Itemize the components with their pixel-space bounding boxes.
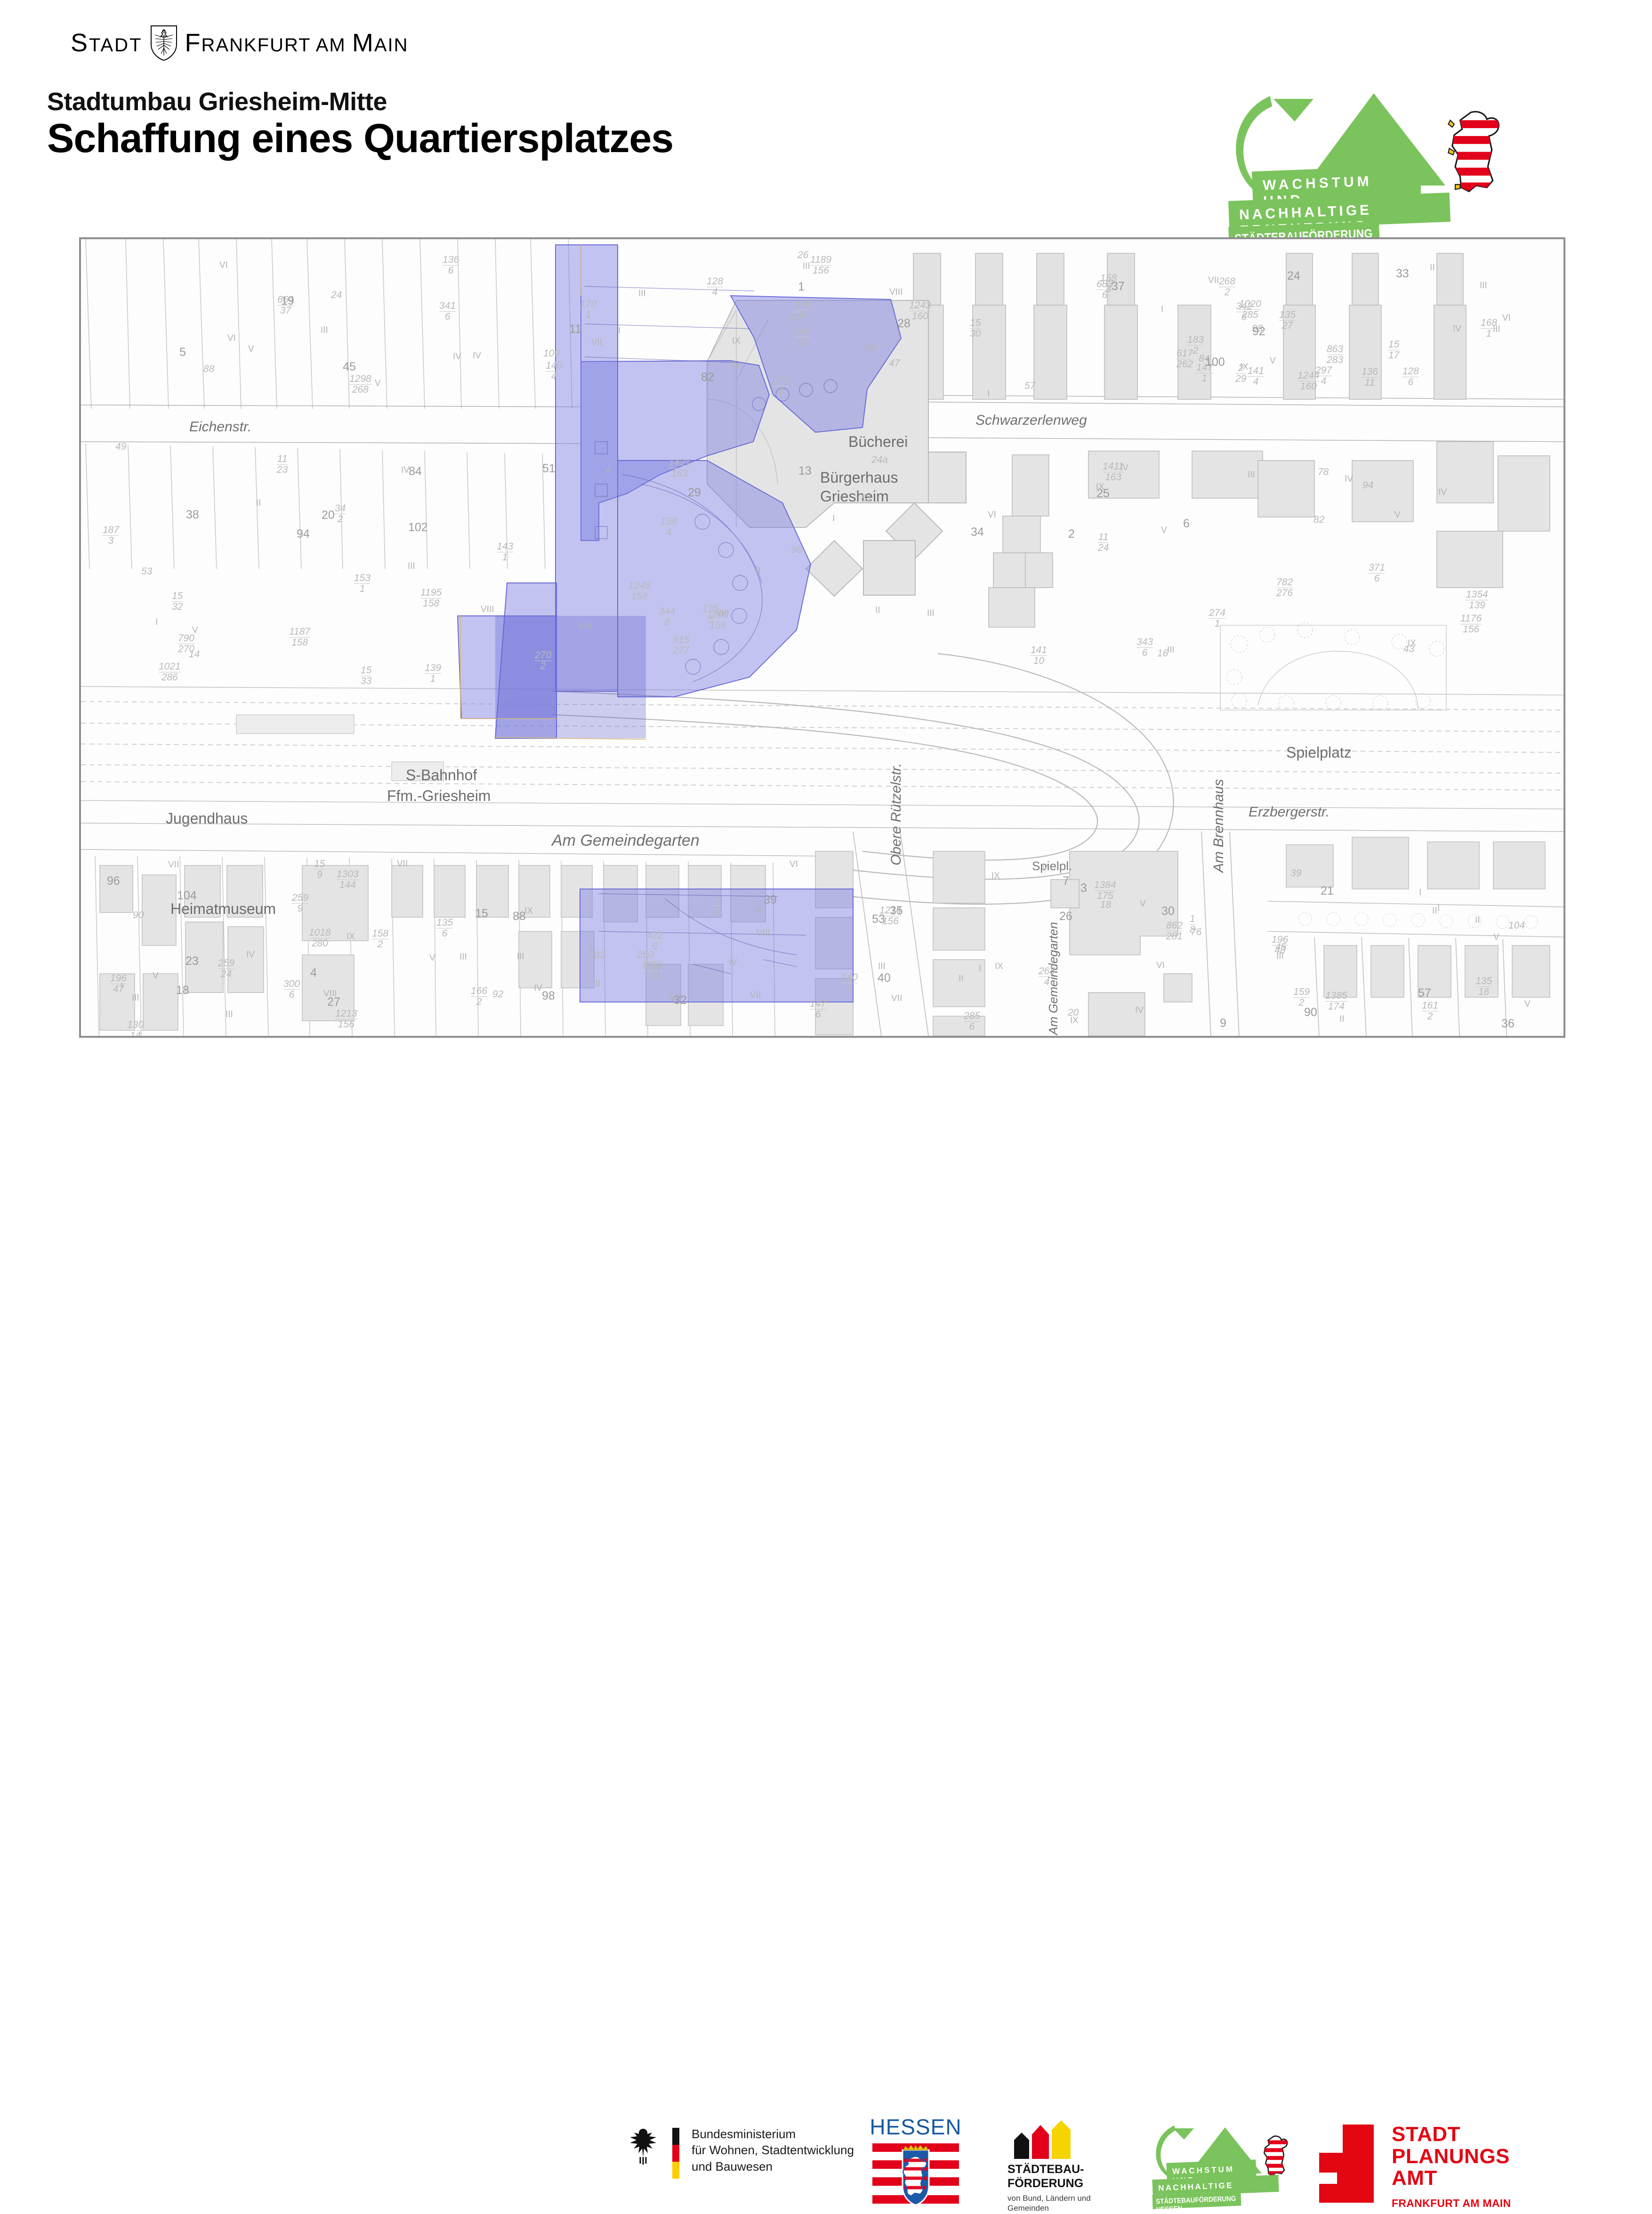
parcel-number: 1248158 xyxy=(629,581,651,601)
bundesadler-eagle-icon xyxy=(626,2126,660,2166)
parcel-number: 1286 xyxy=(1402,366,1419,387)
parcel-number: 51 xyxy=(861,493,872,503)
parcel-number: 26 xyxy=(798,250,808,260)
floor-count-mark: VI xyxy=(227,333,236,344)
page-header: STADT FRANKFURT AM MAIN Stadtumbau Gries… xyxy=(0,0,1652,221)
parcel-number: 1414 xyxy=(1248,366,1264,387)
parcel-number: 39 xyxy=(1290,868,1301,878)
house-number: 34 xyxy=(971,525,984,539)
parcel-number: 13014 xyxy=(127,1020,144,1038)
parcel-number: 1195158 xyxy=(420,588,442,608)
house-number: 21 xyxy=(1321,884,1334,898)
house-number: 18 xyxy=(176,984,189,997)
house-number: 51 xyxy=(542,462,556,476)
parcel-number: 1701 xyxy=(580,299,596,320)
parcel-number: 1366 xyxy=(443,255,459,275)
floor-count-mark: III xyxy=(878,962,886,972)
parcel-number: 1402 xyxy=(841,972,858,993)
parcel-number: 1298268 xyxy=(349,374,371,395)
spa-line1: STADT xyxy=(1392,2124,1511,2146)
floor-count-mark: V xyxy=(153,971,159,981)
floor-count-mark: VI xyxy=(988,510,996,520)
parcel-number: 96 xyxy=(791,545,802,555)
house-number: 57 xyxy=(1418,986,1431,1000)
parcel-number: 790270 xyxy=(178,633,194,654)
parcel-number: 49 xyxy=(115,442,126,452)
floor-count-mark: VII xyxy=(591,338,602,348)
floor-count-mark: III xyxy=(1167,645,1175,655)
parcel-number: 1354139 xyxy=(1466,590,1488,610)
stf-sub2: Gemeinden xyxy=(1007,2203,1116,2213)
parcel-number: 14110 xyxy=(1031,645,1047,666)
parcel-number: 102 xyxy=(588,950,605,960)
house-number: 9 xyxy=(1220,1017,1226,1030)
stadtplanungsamt-text: STADT PLANUNGS AMT FRANKFURT AM MAIN xyxy=(1392,2124,1511,2210)
stadtplanungsamt-logo: STADT PLANUNGS AMT FRANKFURT AM MAIN xyxy=(1318,2124,1511,2210)
floor-count-mark: IV xyxy=(653,963,662,974)
floor-count-mark: II xyxy=(1475,915,1480,926)
spa-line2: PLANUNGS xyxy=(1392,2146,1511,2168)
floor-count-mark: III xyxy=(517,952,524,962)
parcel-number: 16 xyxy=(1157,648,1168,658)
parcel-number: 1021286 xyxy=(159,662,181,682)
floor-count-mark: I xyxy=(1419,888,1421,898)
floor-count-mark: V xyxy=(1140,899,1146,909)
floor-count-mark: II xyxy=(595,979,600,989)
house-number: 40 xyxy=(878,971,891,985)
parcel-number: 1243160 xyxy=(909,300,931,321)
german-flag-bar-icon xyxy=(672,2128,679,2179)
house-number: 90 xyxy=(1304,1006,1317,1019)
parcel-number: 57 xyxy=(1024,381,1035,391)
parcel-number: 782276 xyxy=(1276,577,1293,598)
parcel-number: 12 xyxy=(714,895,720,916)
floor-count-mark: I xyxy=(618,326,621,336)
parcel-number: 1176156 xyxy=(1460,614,1482,634)
house-number: 30 xyxy=(1161,905,1175,918)
floor-count-mark: IV xyxy=(453,352,461,362)
house-number: 15 xyxy=(475,907,488,921)
hessen-wordmark: HESSEN xyxy=(869,2114,963,2140)
parcel-number: 1384175 xyxy=(1094,880,1116,901)
parcel-number: 2741 xyxy=(1209,608,1225,629)
parcel-number: 53 xyxy=(141,566,152,576)
parcel-number: 3436 xyxy=(1136,637,1153,658)
floor-count-mark: V xyxy=(375,379,381,389)
bmwsb-line1: Bundesministerium xyxy=(692,2126,854,2142)
page-footer: Bundesministerium für Wohnen, Stadtentwi… xyxy=(0,1055,1652,1168)
parcel-number: 3416 xyxy=(439,301,456,322)
floor-count-mark: IX xyxy=(1096,482,1104,493)
floor-count-mark: IX xyxy=(995,962,1003,972)
parcel-number: 159 xyxy=(314,859,325,880)
house-number: 37 xyxy=(1112,280,1125,293)
floor-count-mark: I xyxy=(1437,904,1440,914)
stf-sub1: von Bund, Ländern und xyxy=(1007,2193,1116,2203)
house-number: 19 xyxy=(281,294,294,308)
parcel-number: 14515 xyxy=(794,326,810,347)
parcel-number: 617262 xyxy=(1177,348,1193,369)
parcel-number: 1592 xyxy=(1293,987,1310,1008)
floor-count-mark: IX xyxy=(754,905,763,915)
parcel-number: 815277 xyxy=(673,635,689,655)
parcel-number: 1533 xyxy=(361,665,371,686)
floor-count-mark: IV xyxy=(401,465,410,476)
floor-count-mark: I xyxy=(832,514,835,524)
house-number: 38 xyxy=(186,508,199,522)
parcel-number: 104 xyxy=(1508,921,1525,930)
floor-count-mark: III xyxy=(1248,470,1255,480)
floor-count-mark: V xyxy=(1524,999,1531,1010)
parcel-number: 1421163 xyxy=(669,458,691,478)
house-number: 5 xyxy=(179,346,186,359)
floor-count-mark: IX xyxy=(1070,1016,1079,1026)
parcel-number: 18 xyxy=(1100,900,1111,910)
floor-count-mark: VII xyxy=(168,860,179,870)
house-number: 36 xyxy=(1501,1017,1515,1031)
parcel-number: 18 xyxy=(1190,914,1195,935)
city-logo-word-frankfurt: FRANKFURT AM MAIN xyxy=(185,28,409,57)
floor-count-mark: IV xyxy=(534,983,542,994)
floor-count-mark: VII xyxy=(865,343,876,354)
floor-count-mark: IV xyxy=(729,958,737,968)
parcel-number: 342 xyxy=(335,503,346,524)
floor-count-mark: V xyxy=(1493,932,1499,943)
parcel-number: 24 xyxy=(331,290,342,300)
parcel-number: 1517 xyxy=(1388,339,1399,360)
floor-count-mark: I xyxy=(590,941,592,952)
parcel-number: 2856 xyxy=(964,1011,980,1032)
floor-count-mark: III xyxy=(459,952,467,962)
stadtplanungsamt-mark-icon xyxy=(1318,2124,1375,2204)
parcel-number: 1284 xyxy=(707,276,723,297)
parcel-number: 1385174 xyxy=(1325,991,1347,1011)
parcel-number: 863283 xyxy=(1327,344,1343,365)
house-number: 53 xyxy=(872,913,885,926)
parcel-number: 1531 xyxy=(354,573,371,594)
parcel-number: 1303144 xyxy=(337,869,359,890)
house-number: 92 xyxy=(1252,325,1265,339)
floor-count-mark: V xyxy=(604,465,611,475)
house-number: 96 xyxy=(107,874,120,888)
staedtebaufoerderung-sub: von Bund, Ländern und Gemeinden xyxy=(1007,2193,1116,2214)
hessen-coat-of-arms-icon xyxy=(869,2142,963,2208)
floor-count-mark: VII xyxy=(1208,275,1219,286)
cadastral-map[interactable]: Eichenstr. Schwarzerlenweg Erzbergerstr.… xyxy=(79,237,1565,1038)
bmwsb-line3: und Bauwesen xyxy=(692,2158,854,2174)
floor-count-mark: II xyxy=(959,974,964,984)
parcel-number: 862281 xyxy=(1166,921,1183,941)
parcel-number: 1873 xyxy=(103,525,119,546)
floor-count-mark: II xyxy=(756,566,761,576)
house-number: 23 xyxy=(185,954,199,968)
parcel-number: 4226 xyxy=(646,930,663,951)
floor-count-mark: III xyxy=(1493,324,1500,335)
house-number: 88 xyxy=(513,910,526,923)
house-number: 35 xyxy=(890,904,903,918)
floor-count-mark: II xyxy=(875,606,880,616)
floor-count-mark: III xyxy=(408,561,415,572)
floor-count-mark: III xyxy=(132,993,139,1003)
floor-count-mark: III xyxy=(927,608,935,619)
house-number: 84 xyxy=(409,465,422,478)
spa-line3: AMT xyxy=(1392,2167,1511,2190)
parcel-number: 1476 xyxy=(810,999,826,1019)
city-logo-word-stadt: STADT xyxy=(71,28,143,57)
page-title: Schaffung eines Quartiersplatzes xyxy=(47,115,673,162)
parcel-number: 3446 xyxy=(659,606,675,627)
parcel-number: 1532 xyxy=(172,591,183,612)
floor-count-mark: I xyxy=(979,964,981,974)
floor-count-mark: VII xyxy=(750,990,761,1001)
parcel-number: 3006 xyxy=(283,979,300,1000)
floor-count-mark: V xyxy=(1270,356,1276,366)
parcel-number: 13516 xyxy=(1475,976,1492,997)
frankfurt-eagle-crest-icon xyxy=(149,24,178,61)
parcel-number: 3716 xyxy=(1369,563,1385,583)
floor-count-mark: IX xyxy=(1240,362,1249,372)
house-number: 33 xyxy=(1396,267,1409,281)
parcel-number: 1213156 xyxy=(335,1009,357,1029)
floor-count-mark: VI xyxy=(1156,961,1165,971)
floor-count-mark: IV xyxy=(668,993,676,1003)
floor-count-mark: IV xyxy=(1345,474,1353,485)
parcel-number: 47 xyxy=(889,358,900,368)
parcel-number: 224 xyxy=(790,301,801,322)
floor-count-mark: VIII xyxy=(323,989,337,999)
house-number: 82 xyxy=(701,371,714,384)
house-number: 24 xyxy=(1287,269,1300,283)
staedtebaufoerderung-logo: STÄDTEBAU- FÖRDERUNG von Bund, Ländern u… xyxy=(1007,2121,1116,2214)
house-number: 45 xyxy=(343,360,356,374)
bmwsb-line2: für Wohnen, Stadtentwicklung xyxy=(692,2142,854,2158)
floor-count-mark: VIII xyxy=(481,605,494,615)
parcel-number: 100 xyxy=(543,348,560,358)
floor-count-mark: I xyxy=(155,617,158,628)
parcel-number: 1662 xyxy=(471,986,487,1007)
parcel-number: 2684 xyxy=(1039,966,1055,987)
house-number: 26 xyxy=(1059,910,1072,923)
parcel-number: 1582 xyxy=(372,929,388,949)
parcel-number-layer: 13662424a1355135613516135271361113541391… xyxy=(81,239,1563,1036)
floor-count-mark: VIII xyxy=(716,608,729,619)
floor-count-mark: IV xyxy=(473,351,481,361)
floor-count-mark: VIII xyxy=(757,928,770,938)
floor-count-mark: III xyxy=(803,261,810,272)
parcel-number: 78 xyxy=(1318,467,1329,477)
floor-count-mark: VII xyxy=(397,859,408,869)
floor-count-mark: IV xyxy=(1453,324,1461,334)
house-number: 2 xyxy=(1068,527,1075,541)
house-number: 7 xyxy=(1063,874,1069,888)
floor-count-mark: II xyxy=(256,498,261,509)
floor-count-mark: III xyxy=(226,1010,233,1020)
parcel-number: 1124 xyxy=(1098,532,1109,553)
parcel-number: 1391 xyxy=(425,663,441,684)
parcel-number: 2682 xyxy=(1219,276,1235,297)
floor-count-mark: V xyxy=(429,953,435,963)
house-number: 100 xyxy=(1205,356,1225,369)
parcel-number: 94 xyxy=(1362,480,1373,490)
floor-count-mark: VIII xyxy=(578,622,592,632)
house-number: 20 xyxy=(322,509,335,522)
parcel-number: 2974 xyxy=(1315,365,1332,386)
parcel-number: 82 xyxy=(1314,515,1324,525)
house-number: 94 xyxy=(297,527,310,541)
floor-count-mark: IV xyxy=(1120,463,1128,473)
parcel-number: 1404 xyxy=(546,361,562,381)
parcel-number: 1123 xyxy=(277,454,288,475)
parcel-number: 25924 xyxy=(218,958,234,979)
floor-count-mark: II xyxy=(1430,263,1435,273)
parcel-number: 1356 xyxy=(436,918,453,938)
floor-count-mark: IX xyxy=(347,932,355,942)
floor-count-mark: II xyxy=(1432,906,1437,916)
parcel-number: 1189156 xyxy=(810,255,831,275)
parcel-number: 2599 xyxy=(292,893,308,913)
parcel-number: 2702 xyxy=(535,650,551,671)
floor-count-mark: IX xyxy=(524,906,533,916)
floor-count-mark: VII xyxy=(891,994,902,1004)
city-logo: STADT FRANKFURT AM MAIN xyxy=(71,24,409,61)
floor-count-mark: I xyxy=(987,389,990,399)
floor-count-mark: IV xyxy=(732,360,740,371)
parcel-number: 24a xyxy=(871,455,888,465)
three-houses-icon xyxy=(1007,2121,1116,2159)
stf-line1: STÄDTEBAU- xyxy=(1007,2163,1116,2177)
house-number: 1 xyxy=(798,280,805,294)
floor-count-mark: VI xyxy=(219,260,228,271)
wachstum-erneuerung-logo-footer: WACHSTUM UND NACHHALTIGE ERNEUERUNG STÄD… xyxy=(1149,2124,1304,2199)
floor-count-mark: V xyxy=(1042,863,1048,873)
floor-count-mark: III xyxy=(1480,281,1487,291)
house-number: 4 xyxy=(310,966,317,980)
house-number: 39 xyxy=(764,893,777,907)
hessen-logo: HESSEN xyxy=(869,2114,963,2208)
parcel-number: 2608 xyxy=(637,950,653,970)
house-number: 104 xyxy=(177,889,197,903)
floor-count-mark: III xyxy=(1276,951,1284,962)
floor-count-mark: III xyxy=(321,325,328,336)
floor-count-mark: IV xyxy=(246,950,255,960)
house-number: 29 xyxy=(688,486,701,500)
house-number: 11 xyxy=(569,323,581,336)
house-number: 6 xyxy=(1183,517,1190,531)
house-number: 98 xyxy=(542,989,555,1003)
parcel-number: 19647 xyxy=(110,973,127,994)
floor-count-mark: I xyxy=(1161,305,1163,315)
floor-count-mark: IV xyxy=(1438,487,1447,498)
parcel-number: 90 xyxy=(133,910,144,920)
parcel-number: 13611 xyxy=(1362,367,1378,388)
floor-count-mark: V xyxy=(192,625,198,636)
floor-count-mark: I xyxy=(121,981,123,992)
parcel-number: 1431 xyxy=(497,541,513,562)
parcel-number: 1612 xyxy=(1422,1001,1438,1021)
parcel-number: 92 xyxy=(492,989,503,999)
wachstum-footer-band3: STÄDTEBAUFÖRDERUNG HESSEN xyxy=(1152,2191,1241,2209)
house-number: 102 xyxy=(408,521,428,534)
floor-count-mark: IX xyxy=(732,336,741,347)
floor-count-mark: V xyxy=(248,344,254,355)
bmwsb-text: Bundesministerium für Wohnen, Stadtentwi… xyxy=(692,2126,854,2174)
floor-count-mark: VIII xyxy=(889,287,903,298)
parcel-number: 1018280 xyxy=(309,928,331,948)
floor-count-mark: IX xyxy=(1408,638,1416,649)
parcel-number: 13527 xyxy=(1279,310,1296,331)
parcel-number: 3426 xyxy=(1236,301,1252,322)
parcel-number: 1734 xyxy=(773,376,789,396)
floor-count-mark: VI xyxy=(1502,313,1511,323)
floor-count-mark: IX xyxy=(991,871,1000,881)
house-number: 3 xyxy=(1080,881,1087,895)
floor-count-mark: V xyxy=(1161,525,1167,536)
parcel-number: 6836 xyxy=(1096,279,1113,300)
floor-count-mark: IV xyxy=(1135,1005,1144,1016)
floor-count-mark: V xyxy=(1394,510,1401,520)
parcel-number: 88 xyxy=(203,364,214,374)
house-number: 13 xyxy=(798,464,812,478)
spa-sub: FRANKFURT AM MAIN xyxy=(1392,2197,1511,2210)
parcel-number: 1584 xyxy=(661,517,677,537)
parcel-number: 1187158 xyxy=(289,627,310,647)
stf-line2: FÖRDERUNG xyxy=(1007,2177,1116,2191)
page-subtitle: Stadtumbau Griesheim-Mitte xyxy=(47,87,387,116)
staedtebaufoerderung-text: STÄDTEBAU- FÖRDERUNG xyxy=(1007,2163,1116,2190)
floor-count-mark: II xyxy=(1339,1014,1345,1025)
bmwsb-logo: Bundesministerium für Wohnen, Stadtentwi… xyxy=(626,2126,854,2179)
floor-count-mark: VI xyxy=(790,859,798,870)
floor-count-mark: III xyxy=(638,289,646,299)
house-number: 28 xyxy=(897,317,911,331)
parcel-number: 1530 xyxy=(970,318,981,339)
